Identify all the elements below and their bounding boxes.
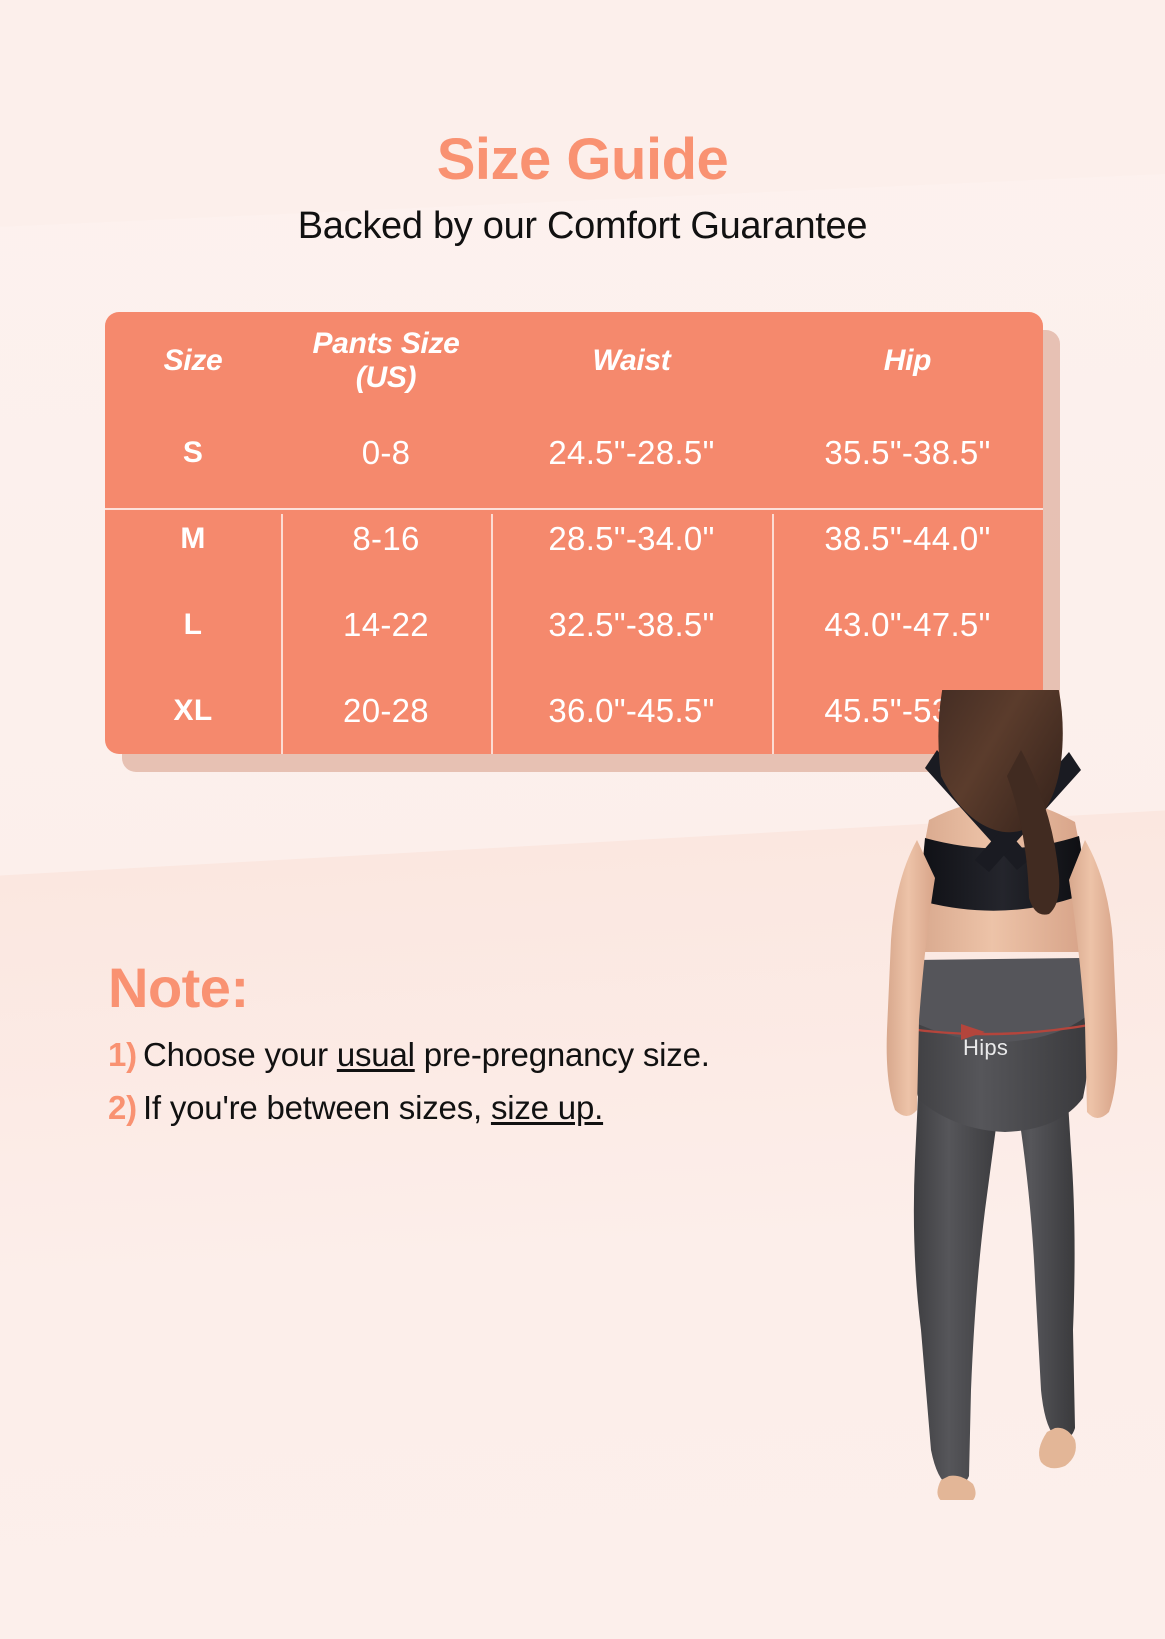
note-item-2-emphasis: size up.	[491, 1089, 603, 1126]
cell-hip: 43.0"-47.5"	[772, 582, 1043, 668]
column-header-size: Size	[105, 312, 281, 410]
cell-waist: 36.0"-45.5"	[491, 668, 772, 754]
cell-size: XL	[105, 668, 281, 754]
table-row: L 14-22 32.5"-38.5" 43.0"-47.5"	[105, 582, 1043, 668]
left-foot	[937, 1476, 975, 1500]
column-header-pants-size: Pants Size (US)	[281, 312, 491, 410]
cell-pants: 14-22	[281, 582, 491, 668]
column-header-waist: Waist	[491, 312, 772, 410]
column-header-pants-size-sublabel: (US)	[312, 361, 459, 395]
column-divider-3	[772, 514, 774, 754]
note-item-2: 2)If you're between sizes, size up.	[108, 1081, 710, 1134]
cell-waist: 32.5"-38.5"	[491, 582, 772, 668]
column-header-pants-size-label: Pants Size	[312, 327, 459, 361]
column-header-waist-label: Waist	[593, 344, 671, 378]
note-item-1: 1)Choose your usual pre-pregnancy size.	[108, 1028, 710, 1081]
note-block: Note: 1)Choose your usual pre-pregnancy …	[108, 960, 710, 1135]
note-item-1-text-after: pre-pregnancy size.	[415, 1036, 710, 1073]
column-header-hip-label: Hip	[884, 344, 931, 378]
note-item-1-emphasis: usual	[337, 1036, 415, 1073]
hips-measurement-label: Hips	[963, 1035, 1008, 1061]
header-divider	[105, 508, 1043, 510]
page-subtitle: Backed by our Comfort Guarantee	[0, 205, 1165, 248]
header: Size Guide Backed by our Comfort Guarant…	[0, 130, 1165, 248]
cell-size: L	[105, 582, 281, 668]
column-header-size-label: Size	[164, 344, 223, 378]
cell-hip: 35.5"-38.5"	[772, 410, 1043, 496]
note-item-2-text-before: If you're between sizes,	[143, 1089, 491, 1126]
note-item-1-text-before: Choose your	[143, 1036, 337, 1073]
female-back-view-figure-icon	[845, 690, 1165, 1500]
table-header-row: Size Pants Size (US) Waist Hip	[105, 312, 1043, 410]
cell-size: S	[105, 410, 281, 496]
table-row: S 0-8 24.5"-28.5" 35.5"-38.5"	[105, 410, 1043, 496]
note-item-2-number: 2)	[108, 1089, 137, 1126]
note-item-1-number: 1)	[108, 1036, 137, 1073]
note-title: Note:	[108, 960, 710, 1016]
column-header-hip: Hip	[772, 312, 1043, 410]
model-figure	[845, 690, 1165, 1500]
size-table: Size Pants Size (US) Waist Hip S 0-8 24.…	[105, 312, 1043, 754]
page-title: Size Guide	[0, 130, 1165, 191]
cell-pants: 0-8	[281, 410, 491, 496]
right-foot	[1039, 1428, 1076, 1469]
column-divider-1	[281, 514, 283, 754]
cell-pants: 20-28	[281, 668, 491, 754]
column-divider-2	[491, 514, 493, 754]
cell-waist: 24.5"-28.5"	[491, 410, 772, 496]
